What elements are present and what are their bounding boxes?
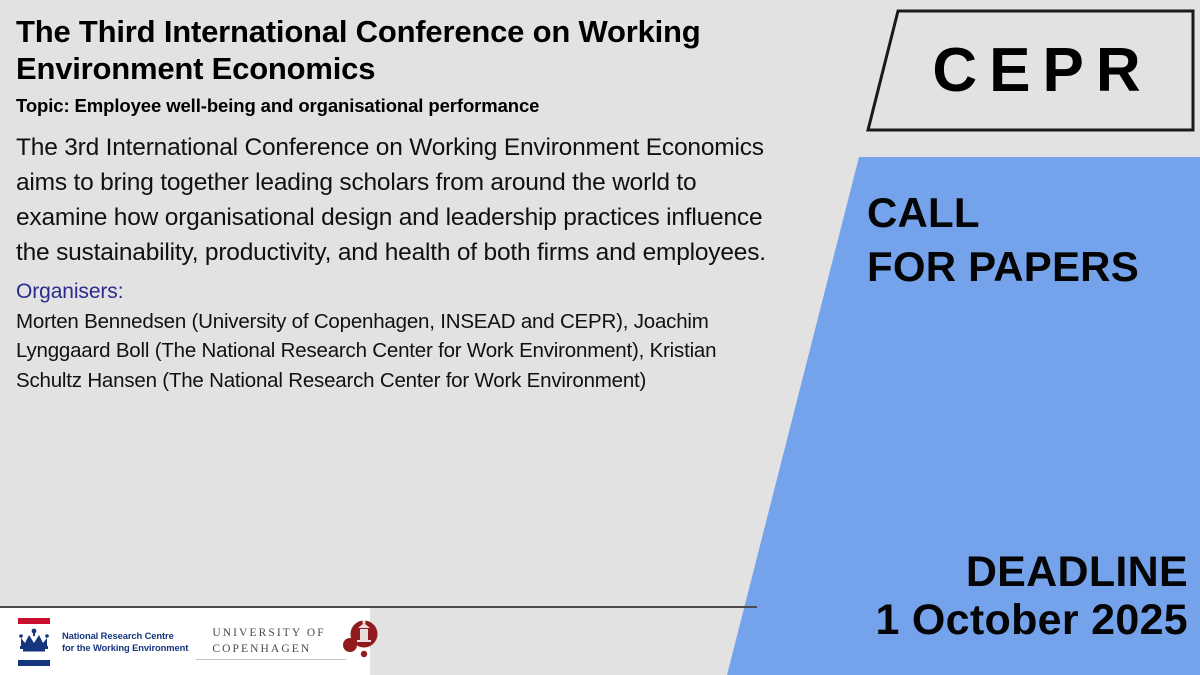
- ucph-logo-line1: UNIVERSITY OF: [212, 626, 325, 642]
- cepr-wordmark-text: CEPR: [855, 4, 1200, 136]
- conference-description: The 3rd International Conference on Work…: [16, 131, 776, 270]
- call-line-1: CALL: [867, 186, 1139, 240]
- nrcwe-logo-line2: for the Working Environment: [62, 642, 188, 654]
- nrcwe-logo-line1: National Research Centre: [62, 630, 188, 642]
- nrcwe-logo: National Research Centre for the Working…: [14, 616, 188, 668]
- ucph-seal-icon: [334, 619, 382, 665]
- footer-logo-strip: National Research Centre for the Working…: [0, 608, 370, 675]
- deadline-label: DEADLINE: [875, 548, 1188, 596]
- conference-topic: Topic: Employee well-being and organisat…: [16, 95, 776, 117]
- conference-info-column: The Third International Conference on Wo…: [16, 14, 776, 395]
- page-title: The Third International Conference on Wo…: [16, 14, 776, 87]
- organisers-label: Organisers:: [16, 280, 776, 304]
- deadline-date: 1 October 2025: [875, 596, 1188, 644]
- deadline-block: DEADLINE 1 October 2025: [875, 548, 1188, 644]
- university-of-copenhagen-logo: UNIVERSITY OF COPENHAGEN: [212, 619, 381, 665]
- ucph-logo-underline: [196, 659, 346, 660]
- nrcwe-logo-text: National Research Centre for the Working…: [62, 630, 188, 654]
- organisers-list: Morten Bennedsen (University of Copenhag…: [16, 307, 761, 394]
- call-for-papers-heading: CALL FOR PAPERS: [867, 186, 1139, 294]
- ucph-logo-text: UNIVERSITY OF COPENHAGEN: [212, 626, 325, 657]
- ucph-logo-line2: COPENHAGEN: [212, 642, 325, 658]
- danish-crown-icon: [14, 616, 56, 668]
- call-line-2: FOR PAPERS: [867, 240, 1139, 294]
- cepr-logo[interactable]: CEPR: [855, 4, 1200, 136]
